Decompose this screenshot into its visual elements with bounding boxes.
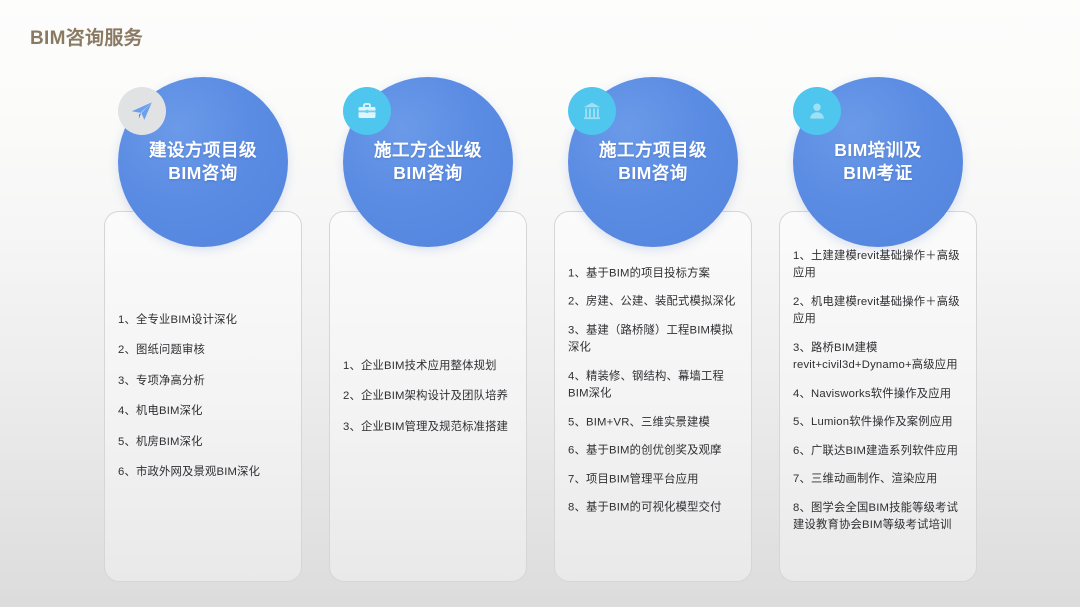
briefcase-icon (343, 87, 391, 135)
list-item: 3、企业BIM管理及规范标准搭建 (343, 418, 513, 436)
list-item: 1、全专业BIM设计深化 (118, 312, 288, 330)
list-item: 1、基于BIM的项目投标方案 (568, 265, 738, 283)
circle-title-line2: BIM咨询 (168, 163, 238, 183)
circle-title-line1: 施工方项目级 (599, 140, 707, 160)
list-item: 3、路桥BIM建模revit+civil3d+Dynamo+高级应用 (793, 340, 963, 375)
list-item: 6、广联达BIM建造系列软件应用 (793, 443, 963, 461)
list-item: 6、基于BIM的创优创奖及观摩 (568, 443, 738, 461)
list-item: 4、Navisworks软件操作及应用 (793, 386, 963, 404)
list-item: 7、项目BIM管理平台应用 (568, 471, 738, 489)
circle-title-line2: BIM考证 (843, 163, 913, 183)
paper-plane-icon (118, 87, 166, 135)
list-item: 1、企业BIM技术应用整体规划 (343, 357, 513, 375)
service-columns: 1、全专业BIM设计深化 2、图纸问题审核 3、专项净高分析 4、机电BIM深化… (0, 0, 1080, 607)
list-item: 8、基于BIM的可视化模型交付 (568, 500, 738, 518)
list-item: 5、机房BIM深化 (118, 434, 288, 452)
list-item: 2、图纸问题审核 (118, 342, 288, 360)
list-item: 2、企业BIM架构设计及团队培养 (343, 388, 513, 406)
service-column-3: 1、基于BIM的项目投标方案 2、房建、公建、装配式模拟深化 3、基建（路桥隧）… (541, 0, 765, 607)
circle-title-line1: BIM培训及 (834, 140, 922, 160)
list-item: 5、BIM+VR、三维实景建模 (568, 414, 738, 432)
service-circle-label-1: 建设方项目级 BIM咨询 (143, 139, 263, 186)
service-circle-label-2: 施工方企业级 BIM咨询 (368, 139, 488, 186)
service-card-2: 1、企业BIM技术应用整体规划 2、企业BIM架构设计及团队培养 3、企业BIM… (329, 211, 527, 582)
service-circle-label-4: BIM培训及 BIM考证 (828, 139, 928, 186)
circle-title-line1: 施工方企业级 (374, 140, 482, 160)
service-circle-label-3: 施工方项目级 BIM咨询 (593, 139, 713, 186)
list-item: 2、机电建模revit基础操作＋高级应用 (793, 294, 963, 329)
service-card-3: 1、基于BIM的项目投标方案 2、房建、公建、装配式模拟深化 3、基建（路桥隧）… (554, 211, 752, 582)
list-item: 2、房建、公建、装配式模拟深化 (568, 294, 738, 312)
list-item: 3、基建（路桥隧）工程BIM模拟深化 (568, 322, 738, 357)
list-item: 4、机电BIM深化 (118, 403, 288, 421)
service-card-4: 1、土建建模revit基础操作＋高级应用 2、机电建模revit基础操作＋高级应… (779, 211, 977, 582)
circle-title-line2: BIM咨询 (393, 163, 463, 183)
service-card-1: 1、全专业BIM设计深化 2、图纸问题审核 3、专项净高分析 4、机电BIM深化… (104, 211, 302, 582)
list-item: 5、Lumion软件操作及案例应用 (793, 414, 963, 432)
list-item: 3、专项净高分析 (118, 373, 288, 391)
list-item: 7、三维动画制作、渲染应用 (793, 471, 963, 489)
service-list-1: 1、全专业BIM设计深化 2、图纸问题审核 3、专项净高分析 4、机电BIM深化… (118, 312, 288, 482)
service-column-2: 1、企业BIM技术应用整体规划 2、企业BIM架构设计及团队培养 3、企业BIM… (316, 0, 540, 607)
building-icon (568, 87, 616, 135)
user-icon (793, 87, 841, 135)
list-item: 8、图学会全国BIM技能等级考试建设教育协会BIM等级考试培训 (793, 500, 963, 535)
service-list-2: 1、企业BIM技术应用整体规划 2、企业BIM架构设计及团队培养 3、企业BIM… (343, 357, 513, 436)
service-list-4: 1、土建建模revit基础操作＋高级应用 2、机电建模revit基础操作＋高级应… (793, 248, 963, 535)
list-item: 4、精装修、钢结构、幕墙工程BIM深化 (568, 368, 738, 403)
circle-title-line1: 建设方项目级 (149, 140, 257, 160)
service-list-3: 1、基于BIM的项目投标方案 2、房建、公建、装配式模拟深化 3、基建（路桥隧）… (568, 265, 738, 517)
list-item: 6、市政外网及景观BIM深化 (118, 464, 288, 482)
service-column-4: 1、土建建模revit基础操作＋高级应用 2、机电建模revit基础操作＋高级应… (766, 0, 990, 607)
service-column-1: 1、全专业BIM设计深化 2、图纸问题审核 3、专项净高分析 4、机电BIM深化… (91, 0, 315, 607)
circle-title-line2: BIM咨询 (618, 163, 688, 183)
list-item: 1、土建建模revit基础操作＋高级应用 (793, 248, 963, 283)
